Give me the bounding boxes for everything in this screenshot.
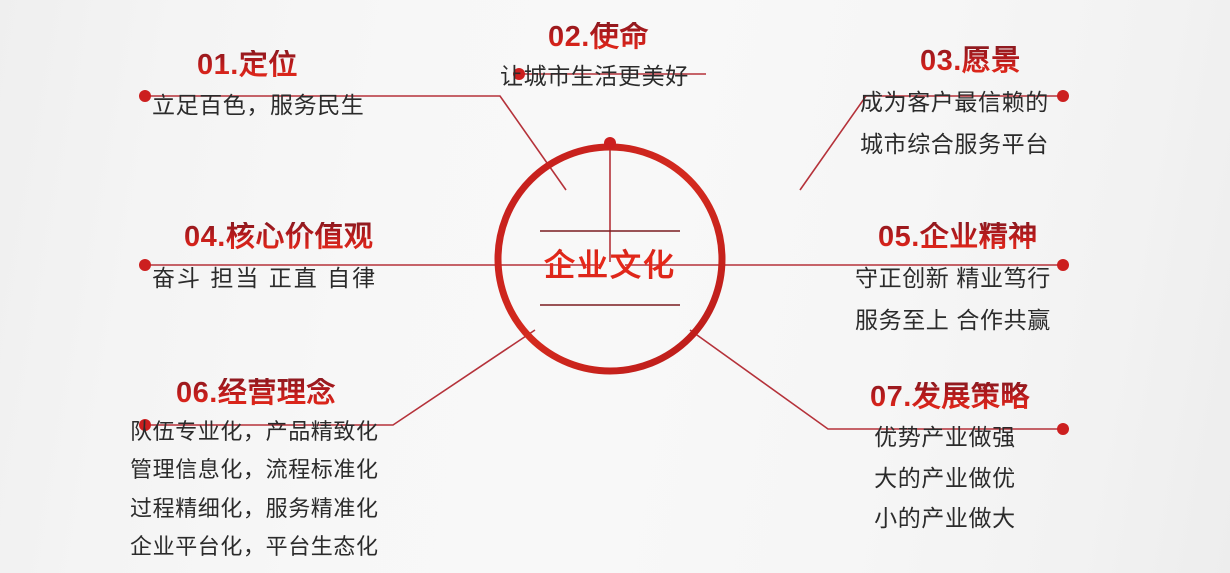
node-body-07-line-3: 小的产业做大 [860, 503, 1030, 533]
node-body-04-line-1: 奋斗 担当 正直 自律 [152, 263, 377, 293]
endpoint-dot-03 [1057, 90, 1069, 102]
endpoint-dot-07 [1057, 423, 1069, 435]
node-body-06-line-3: 过程精细化，服务精准化 [130, 494, 379, 523]
node-title-04: 04.核心价值观 [152, 222, 377, 252]
endpoint-dot-01 [139, 90, 151, 102]
node-title-03: 03.愿景 [860, 46, 1049, 76]
node-title-06: 06.经营理念 [130, 378, 379, 408]
node-core-values[interactable]: 04.核心价值观 奋斗 担当 正直 自律 [152, 222, 377, 294]
node-positioning[interactable]: 01.定位 立足百色，服务民生 [152, 50, 364, 121]
node-body-03-line-1: 成为客户最信赖的 [860, 87, 1049, 117]
node-enterprise-spirit[interactable]: 05.企业精神 守正创新 精业笃行 服务至上 合作共赢 [855, 222, 1051, 335]
endpoint-dot-05 [1057, 259, 1069, 271]
node-development-strategy[interactable]: 07.发展策略 优势产业做强 大的产业做优 小的产业做大 [860, 382, 1030, 534]
node-body-06-line-1: 队伍专业化，产品精致化 [130, 417, 379, 446]
node-mission[interactable]: 02.使命 让城市生活更美好 [500, 22, 689, 92]
culture-diagram: 01.定位 立足百色，服务民生 02.使命 让城市生活更美好 03.愿景 成为客… [0, 0, 1230, 573]
node-body-06-line-4: 企业平台化，平台生态化 [130, 532, 379, 561]
node-title-01: 01.定位 [152, 50, 364, 80]
node-body-05-line-2: 服务至上 合作共赢 [855, 305, 1051, 335]
node-body-06-line-2: 管理信息化，流程标准化 [130, 455, 379, 484]
node-body-01-line-1: 立足百色，服务民生 [152, 90, 364, 120]
node-body-02-line-1: 让城市生活更美好 [500, 61, 689, 91]
center-label: 企业文化 [495, 240, 725, 285]
endpoint-dot-04 [139, 259, 151, 271]
center-node[interactable]: 企业文化 [495, 144, 725, 374]
node-vision[interactable]: 03.愿景 成为客户最信赖的 城市综合服务平台 [860, 46, 1049, 159]
node-body-07-line-2: 大的产业做优 [860, 463, 1030, 493]
node-title-07: 07.发展策略 [860, 382, 1030, 412]
node-title-05: 05.企业精神 [855, 222, 1051, 252]
node-body-03-line-2: 城市综合服务平台 [860, 129, 1049, 159]
node-body-07-line-1: 优势产业做强 [860, 422, 1030, 452]
node-title-02: 02.使命 [500, 22, 689, 52]
node-management-philosophy[interactable]: 06.经营理念 队伍专业化，产品精致化 管理信息化，流程标准化 过程精细化，服务… [130, 378, 379, 561]
node-body-05-line-1: 守正创新 精业笃行 [855, 263, 1051, 293]
